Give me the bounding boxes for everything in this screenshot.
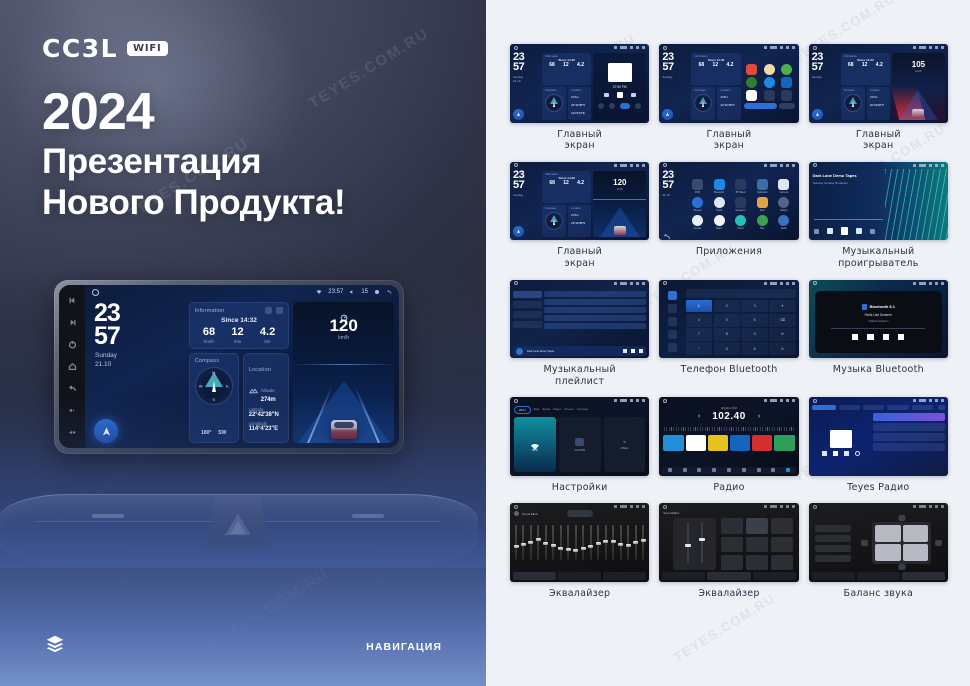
thumbnail-sound-balance[interactable] — [809, 503, 948, 582]
volume-up-icon[interactable] — [68, 428, 77, 437]
dialpad-key-6[interactable]: 6 — [741, 314, 767, 327]
call-icon[interactable]: ✆ — [769, 328, 795, 341]
refresh-icon[interactable] — [265, 307, 272, 314]
tab-item[interactable] — [863, 405, 884, 410]
navigation-arrow-icon[interactable] — [662, 109, 673, 120]
navigation-arrow-icon[interactable] — [812, 109, 823, 120]
bt-player-controls[interactable] — [852, 334, 904, 340]
thumbnail-equalizer-presets[interactable]: Sound Effect — [659, 503, 798, 582]
app-drawer-grid[interactable]: DVR Bluetooth BT Music Calculator Camera… — [686, 171, 796, 238]
balance-up-button[interactable] — [898, 515, 905, 521]
dialpad-key-5[interactable]: 5 — [714, 314, 740, 327]
app-icon-chrome[interactable] — [692, 197, 703, 208]
thumbnail-home-drive[interactable]: 23 57 Sunday Information Since 14:32 68 — [809, 44, 948, 123]
app-icon-camera[interactable] — [778, 179, 789, 190]
prev-icon[interactable] — [852, 334, 858, 340]
equalizer-sliders[interactable] — [510, 519, 649, 570]
ta-icon[interactable] — [742, 468, 746, 472]
app-item[interactable]: Files — [752, 197, 772, 212]
sidebar-item-tracks[interactable] — [513, 291, 542, 298]
balance-down-button[interactable] — [898, 564, 905, 570]
app-icon-dvr[interactable] — [692, 179, 703, 190]
location-altitude-label: Altitude — [261, 388, 275, 393]
seat-front-left[interactable] — [875, 525, 900, 542]
track-row[interactable] — [544, 323, 646, 329]
gallery-item[interactable]: Dark Lane Demo Tapes Музыкальныйплейлист — [510, 280, 649, 388]
radio-presets[interactable] — [663, 435, 794, 451]
call-history-icon[interactable] — [668, 330, 677, 339]
thumb-status-bar — [510, 44, 649, 51]
progress-bar[interactable] — [831, 328, 925, 329]
app-icon-bluetooth-music[interactable] — [735, 179, 746, 190]
eq-slider[interactable] — [635, 525, 637, 560]
app-item[interactable]: Clock — [709, 197, 729, 212]
thumbnail-settings[interactable]: Wi-Fi Звук Экран Радио Личное Система Wi… — [510, 397, 649, 476]
volume-icon — [929, 399, 932, 402]
prev-station-icon[interactable]: ‹ — [698, 413, 700, 420]
hero-panel: TEYES.COM.RU TEYES.COM.RU TEYES.COM.RU T… — [0, 0, 486, 686]
fader-slider-right[interactable] — [701, 522, 703, 563]
head-unit-screen[interactable]: 23:57 15 — [85, 285, 399, 448]
next-track-icon[interactable] — [68, 318, 77, 327]
prev-icon[interactable] — [822, 451, 827, 456]
navigation-arrow-icon[interactable] — [94, 419, 118, 443]
thumb-information-card: Information Since 14:32 68 12 4.2 — [691, 53, 740, 85]
preset-3[interactable] — [708, 435, 728, 451]
tab-sound[interactable]: Звук — [534, 406, 540, 414]
star-icon[interactable]: ✦ — [769, 300, 795, 313]
preset-button[interactable] — [746, 537, 768, 552]
sidebar-item-folders[interactable] — [513, 321, 542, 328]
app-item[interactable]: Bluetooth — [709, 179, 729, 194]
thumb-status-bar — [659, 397, 798, 404]
station-row[interactable] — [873, 443, 945, 451]
horizon-line — [593, 199, 646, 200]
app-icon-spotify[interactable] — [746, 77, 757, 88]
settings-icon[interactable] — [771, 468, 775, 472]
eq-tab-balance[interactable] — [603, 572, 646, 580]
fader-slider-left[interactable] — [687, 522, 689, 563]
radio-toolbar[interactable] — [662, 467, 795, 474]
compass-direction: SW — [218, 430, 226, 436]
gear-icon — [935, 505, 938, 508]
mini-player-controls[interactable] — [623, 349, 643, 353]
preset-button-active[interactable] — [746, 518, 768, 533]
tab-item[interactable] — [912, 405, 933, 410]
dialpad-key-4[interactable]: 4 — [686, 314, 712, 327]
eq-slider[interactable] — [620, 525, 622, 560]
radio-tuner[interactable]: ‹ 102.40 › — [659, 411, 798, 422]
tab-display[interactable]: Экран — [542, 406, 550, 414]
preset-2[interactable] — [686, 435, 706, 451]
track-row[interactable] — [544, 291, 646, 297]
app-item[interactable]: Google — [688, 215, 708, 230]
location-card[interactable]: Location Altitude 274m — [243, 353, 290, 443]
settings-icon[interactable] — [668, 343, 677, 352]
dialpad-icon[interactable] — [668, 291, 677, 300]
balance-mode-list[interactable] — [815, 517, 851, 570]
preset-button[interactable] — [771, 555, 793, 570]
back-arrow-icon[interactable] — [386, 289, 392, 295]
dialpad-key-8[interactable]: 8 — [714, 328, 740, 341]
teyes-radio-tabs[interactable] — [812, 405, 945, 410]
app-icon-camera[interactable] — [764, 77, 775, 88]
prev-icon[interactable] — [604, 93, 609, 97]
seat-front-right[interactable] — [903, 525, 928, 542]
preset-button[interactable] — [746, 555, 768, 570]
eq-slider[interactable] — [560, 525, 562, 560]
balance-left-button[interactable] — [861, 540, 868, 546]
app-item[interactable]: Camera — [774, 179, 794, 194]
car-3d-model — [614, 226, 626, 235]
preset-5[interactable] — [752, 435, 772, 451]
dialpad-key-hash[interactable]: # — [741, 342, 767, 355]
gallery-caption: Музыка Bluetooth — [833, 364, 924, 376]
app-item[interactable]: Radio — [774, 215, 794, 230]
app-icon-calculator[interactable] — [757, 179, 768, 190]
settings-card-dvr[interactable]: Car DVR — [559, 417, 601, 472]
thumbnail-home-music[interactable]: 23 57 Sunday 21.10 Information Since 14:… — [510, 44, 649, 123]
tab-personal[interactable]: Личное — [564, 406, 574, 414]
contacts-icon[interactable] — [668, 304, 677, 313]
app-icon-all-apps[interactable] — [781, 90, 792, 101]
favorites-icon[interactable] — [786, 468, 790, 472]
eq-tab-fader[interactable] — [558, 572, 601, 580]
thumbnail-home-apps[interactable]: 23 57 Sunday Information Since 14:32 68 — [659, 44, 798, 123]
list-icon[interactable] — [712, 468, 716, 472]
eq-tab-eq[interactable] — [662, 572, 705, 580]
thumbnail-apps[interactable]: 23 57 21.10 DVR Bluetooth BT Music Calcu… — [659, 162, 798, 241]
eq-slider[interactable] — [515, 525, 517, 560]
stop-icon[interactable] — [833, 451, 838, 456]
app-item[interactable]: Play — [752, 215, 772, 230]
thumb-info-stats: 68 12 4.2 — [545, 62, 588, 68]
app-icon-assistant[interactable] — [764, 64, 775, 75]
dial-button[interactable]: ✆ — [769, 342, 795, 355]
app-item[interactable]: BT Music — [731, 179, 751, 194]
tab-item[interactable] — [887, 405, 908, 410]
mini-player-bar[interactable]: Dark Lane Demo Tapes — [513, 346, 646, 356]
af-icon[interactable] — [757, 468, 761, 472]
eq-slider[interactable] — [612, 525, 614, 560]
next-icon[interactable] — [856, 228, 862, 234]
source-toggle[interactable] — [620, 103, 630, 109]
eq-fader-sliders[interactable] — [673, 518, 716, 570]
app-icon-gallery[interactable] — [778, 197, 789, 208]
player-controls[interactable] — [604, 92, 636, 98]
thumbnail-home-speed[interactable]: 23 57 Sunday Information Since 14:32 68 — [510, 162, 649, 241]
settings-card-wifi[interactable]: Wi-Fi — [514, 417, 556, 472]
progress-bar[interactable] — [814, 219, 883, 220]
mode-item[interactable] — [815, 555, 851, 562]
playlist-sidebar[interactable] — [513, 289, 542, 356]
seat-rear-left[interactable] — [875, 544, 900, 561]
gallery-item[interactable]: 1 2 3 ✦ 4 5 6 ⌫ 7 8 9 ✆ — [659, 280, 798, 388]
station-row[interactable] — [873, 423, 945, 431]
stat-time: 12 min — [231, 327, 243, 344]
eq-slider[interactable] — [590, 525, 592, 560]
gear-icon[interactable] — [374, 289, 380, 295]
gallery-item[interactable]: 23 57 Sunday Information Since 14:32 68 — [809, 44, 948, 152]
track-row[interactable] — [544, 315, 646, 321]
app-item[interactable]: Maps — [709, 215, 729, 230]
phone-sidebar[interactable] — [662, 289, 683, 356]
app-icon-bluetooth[interactable] — [714, 179, 725, 190]
gallery-caption: Баланс звука — [844, 588, 914, 600]
repeat-icon[interactable] — [870, 229, 875, 234]
gallery-item[interactable]: Rhythm FM ‹ 102.40 › — [659, 397, 798, 493]
station-row-active[interactable] — [873, 413, 945, 421]
eq-presets-body[interactable] — [673, 518, 792, 570]
app-item[interactable]: Gallery — [774, 197, 794, 212]
gallery-item[interactable]: Wi-Fi Звук Экран Радио Личное Система Wi… — [510, 397, 649, 493]
balance-right-button[interactable] — [935, 540, 942, 546]
pause-icon[interactable] — [841, 227, 848, 235]
shuffle-icon[interactable] — [814, 229, 819, 234]
stop-icon[interactable] — [883, 334, 889, 340]
app-item[interactable]: Calculator — [752, 179, 772, 194]
dialer[interactable]: 1 2 3 ✦ 4 5 6 ⌫ 7 8 9 ✆ — [686, 289, 796, 356]
back-icon[interactable] — [68, 384, 77, 393]
repeat-icon[interactable] — [609, 103, 615, 109]
station-row[interactable] — [873, 433, 945, 441]
pause-icon[interactable] — [631, 349, 635, 353]
rds-icon[interactable] — [727, 468, 731, 472]
mode-item[interactable] — [815, 525, 851, 532]
prev-track-icon[interactable] — [68, 296, 77, 305]
compass-card[interactable]: Compass N S W E — [189, 353, 239, 443]
gallery-item[interactable]: 23 57 21.10 DVR Bluetooth BT Music Calcu… — [659, 162, 798, 270]
clock-widget[interactable]: 23 57 Sunday 21.10 — [90, 302, 185, 443]
dialpad-key-7[interactable]: 7 — [686, 328, 712, 341]
thumb-app-shortcuts[interactable] — [743, 53, 796, 120]
settings-tabs[interactable]: Wi-Fi Звук Экран Радио Личное Система — [514, 406, 645, 414]
gallery-item[interactable]: Sound Effect — [659, 503, 798, 599]
app-icon-settings[interactable] — [764, 90, 775, 101]
dialpad-key-3[interactable]: 3 — [741, 300, 767, 313]
information-card[interactable]: Information Since 14:32 68 km/h — [189, 302, 290, 349]
app-icon-maps[interactable] — [781, 64, 792, 75]
thumb-widgets: Information Since 14:32 68 12 4.2 — [691, 53, 740, 120]
home-icon[interactable] — [68, 362, 77, 371]
balance-pad[interactable] — [861, 515, 942, 570]
settings-cards[interactable]: Wi-Fi Car DVR ⟲ Сброс — [514, 417, 645, 472]
app-icon-equalizer[interactable] — [735, 197, 746, 208]
prev-icon[interactable] — [827, 228, 833, 234]
gallery-item[interactable]: 23 57 Sunday 21.10 Information Since 14:… — [510, 44, 649, 152]
app-icon-file-manager[interactable] — [757, 197, 768, 208]
gallery-item[interactable]: Dark Lane Demo Tapes Subway Sunday Sundo… — [809, 162, 948, 270]
app-icon-music[interactable] — [735, 215, 746, 226]
gallery-item[interactable]: Баланс звука — [809, 503, 948, 599]
navigation-arrow-icon[interactable] — [513, 109, 524, 120]
backspace-icon[interactable]: ⌫ — [769, 314, 795, 327]
sidebar-item-artists[interactable] — [513, 301, 542, 308]
eq-tab-fader[interactable] — [857, 572, 900, 580]
dialpad-key-0[interactable]: 0 — [714, 342, 740, 355]
app-item[interactable]: Equalizer — [731, 197, 751, 212]
next-station-icon[interactable]: › — [758, 413, 760, 420]
home-indicator-icon[interactable] — [92, 289, 99, 296]
eq-slider[interactable] — [582, 525, 584, 560]
eq-tab-eq[interactable] — [812, 572, 855, 580]
search-icon[interactable] — [683, 468, 687, 472]
volume-down-icon[interactable] — [68, 406, 77, 415]
wifi-icon — [614, 282, 617, 285]
eq-tab-eq[interactable] — [513, 572, 556, 580]
phone-number-field[interactable] — [686, 289, 796, 298]
preset-button[interactable] — [771, 537, 793, 552]
app-item[interactable]: Music — [731, 215, 751, 230]
speed-panel[interactable]: 120 km/h — [293, 302, 394, 443]
seat-grid[interactable] — [872, 522, 930, 564]
app-icon-youtube[interactable] — [746, 64, 757, 75]
thumbnail-equalizer-bars[interactable]: Sound Effect — [510, 503, 649, 582]
app-icon-mail[interactable] — [781, 77, 792, 88]
eq-slider[interactable] — [567, 525, 569, 560]
prev-icon[interactable] — [623, 349, 627, 353]
information-card-actions[interactable] — [265, 307, 283, 314]
mode-item[interactable] — [815, 535, 851, 542]
eq-slider[interactable] — [627, 525, 629, 560]
eq-tabs[interactable] — [812, 572, 945, 580]
thumbnail-teyes-radio[interactable] — [809, 397, 948, 476]
preset-6[interactable] — [774, 435, 794, 451]
eq-tabs[interactable] — [662, 572, 795, 580]
back-icon — [941, 164, 944, 167]
eq-tab-balance[interactable] — [753, 572, 796, 580]
play-pause-icon[interactable] — [867, 334, 874, 340]
shuffle-icon[interactable] — [598, 103, 604, 109]
eq-tab-fader[interactable] — [707, 572, 750, 580]
thumbnail-bt-phone[interactable]: 1 2 3 ✦ 4 5 6 ⌫ 7 8 9 ✆ — [659, 280, 798, 359]
gallery-item[interactable]: Sound Effect — [510, 503, 649, 599]
thumbnail-bt-music[interactable]: Bluetooth 5.1 Feels Like Summer Childish… — [809, 280, 948, 359]
eq-preset-buttons[interactable] — [721, 518, 792, 570]
gallery-item[interactable]: Bluetooth 5.1 Feels Like Summer Childish… — [809, 280, 948, 388]
close-icon[interactable] — [938, 405, 945, 410]
app-icon-clock[interactable] — [714, 197, 725, 208]
logo-wifi-badge: WIFI — [127, 41, 168, 57]
back-icon[interactable] — [662, 228, 671, 237]
settings-card-reset[interactable]: ⟲ Сброс — [604, 417, 646, 472]
track-row[interactable] — [544, 307, 646, 313]
eq-preset-selector[interactable] — [567, 510, 593, 517]
thumb-status-bar — [510, 397, 649, 404]
stop-icon[interactable] — [617, 92, 623, 98]
thumb-information-card: Information Since 14:32 68 12 4.2 — [542, 53, 591, 85]
volume-icon — [929, 282, 932, 285]
preset-button[interactable] — [721, 518, 743, 533]
dialpad-grid[interactable]: 1 2 3 ✦ 4 5 6 ⌫ 7 8 9 ✆ — [686, 300, 796, 356]
compass-bearing: 180° — [201, 430, 211, 436]
thumbnail-playlist[interactable]: Dark Lane Demo Tapes — [510, 280, 649, 359]
preset-button[interactable] — [771, 518, 793, 533]
next-icon[interactable] — [844, 451, 849, 456]
seat-rear-right[interactable] — [903, 544, 928, 561]
volume-icon — [929, 46, 932, 49]
dialpad-key-1[interactable]: 1 — [686, 300, 712, 313]
eq-slider[interactable] — [545, 525, 547, 560]
next-icon[interactable] — [639, 349, 643, 353]
eq-slider[interactable] — [522, 525, 524, 560]
preset-4[interactable] — [730, 435, 750, 451]
gallery-item[interactable]: Teyes Радио — [809, 397, 948, 493]
more-button[interactable] — [779, 103, 795, 109]
eq-tab-balance[interactable] — [902, 572, 945, 580]
dialpad-key-star[interactable]: * — [686, 342, 712, 355]
player-controls[interactable] — [814, 227, 875, 235]
eq-slider[interactable] — [605, 525, 607, 560]
app-icon-play-store[interactable] — [757, 215, 768, 226]
dialpad-key-2[interactable]: 2 — [714, 300, 740, 313]
scan-icon[interactable] — [697, 468, 701, 472]
tab-active[interactable] — [812, 405, 836, 410]
eq-slider[interactable] — [537, 525, 539, 560]
player-secondary-controls[interactable] — [598, 103, 641, 109]
track-row[interactable] — [544, 299, 646, 305]
app-icon-radio[interactable] — [778, 215, 789, 226]
home-icon — [663, 505, 667, 509]
sidebar-item-albums[interactable] — [513, 311, 542, 318]
radio-scale[interactable] — [664, 427, 793, 431]
search-icon[interactable] — [668, 317, 677, 326]
navigation-arrow-icon[interactable] — [513, 226, 524, 237]
list-icon[interactable] — [635, 103, 641, 109]
bt-track-title: Feels Like Summer — [865, 313, 892, 317]
tab-item[interactable] — [839, 405, 860, 410]
next-icon[interactable] — [898, 334, 904, 340]
next-icon[interactable] — [631, 93, 636, 97]
eq-slider[interactable] — [642, 525, 644, 560]
app-icon-maps[interactable] — [714, 215, 725, 226]
wifi-icon — [764, 505, 767, 508]
back-icon — [941, 282, 944, 285]
playlist-tracks[interactable] — [544, 289, 646, 356]
expand-icon[interactable] — [276, 307, 283, 314]
power-icon[interactable] — [68, 340, 77, 349]
band-icon[interactable] — [668, 468, 672, 472]
preset-1[interactable] — [663, 435, 683, 451]
source-toggle[interactable] — [744, 103, 777, 109]
tab-system[interactable]: Система — [577, 406, 588, 414]
mode-item[interactable] — [815, 545, 851, 552]
eq-slider[interactable] — [530, 525, 532, 560]
app-icon-play-store[interactable] — [746, 90, 757, 101]
eq-slider[interactable] — [552, 525, 554, 560]
eq-slider[interactable] — [575, 525, 577, 560]
head-unit-side-buttons[interactable] — [59, 285, 85, 448]
tab-radio[interactable]: Радио — [553, 406, 561, 414]
player-controls[interactable] — [822, 451, 860, 456]
app-item[interactable]: Chrome — [688, 197, 708, 212]
app-item[interactable]: DVR — [688, 179, 708, 194]
teyes-station-list[interactable] — [873, 413, 945, 473]
favorite-icon[interactable] — [855, 451, 860, 456]
thumbnail-radio[interactable]: Rhythm FM ‹ 102.40 › — [659, 397, 798, 476]
tab-wifi[interactable]: Wi-Fi — [514, 406, 531, 414]
preset-button[interactable] — [721, 555, 743, 570]
gallery-item[interactable]: 23 57 Sunday Information Since 14:32 68 — [659, 44, 798, 152]
location-altitude-value: 274m — [261, 397, 276, 403]
eq-tabs[interactable] — [513, 572, 646, 580]
eq-slider[interactable] — [597, 525, 599, 560]
thumbnail-music-player[interactable]: Dark Lane Demo Tapes Subway Sunday Sundo… — [809, 162, 948, 241]
app-icon-google[interactable] — [692, 215, 703, 226]
preset-button[interactable] — [721, 537, 743, 552]
gallery-item[interactable]: 23 57 Sunday Information Since 14:32 68 — [510, 162, 649, 270]
dialpad-key-9[interactable]: 9 — [741, 328, 767, 341]
